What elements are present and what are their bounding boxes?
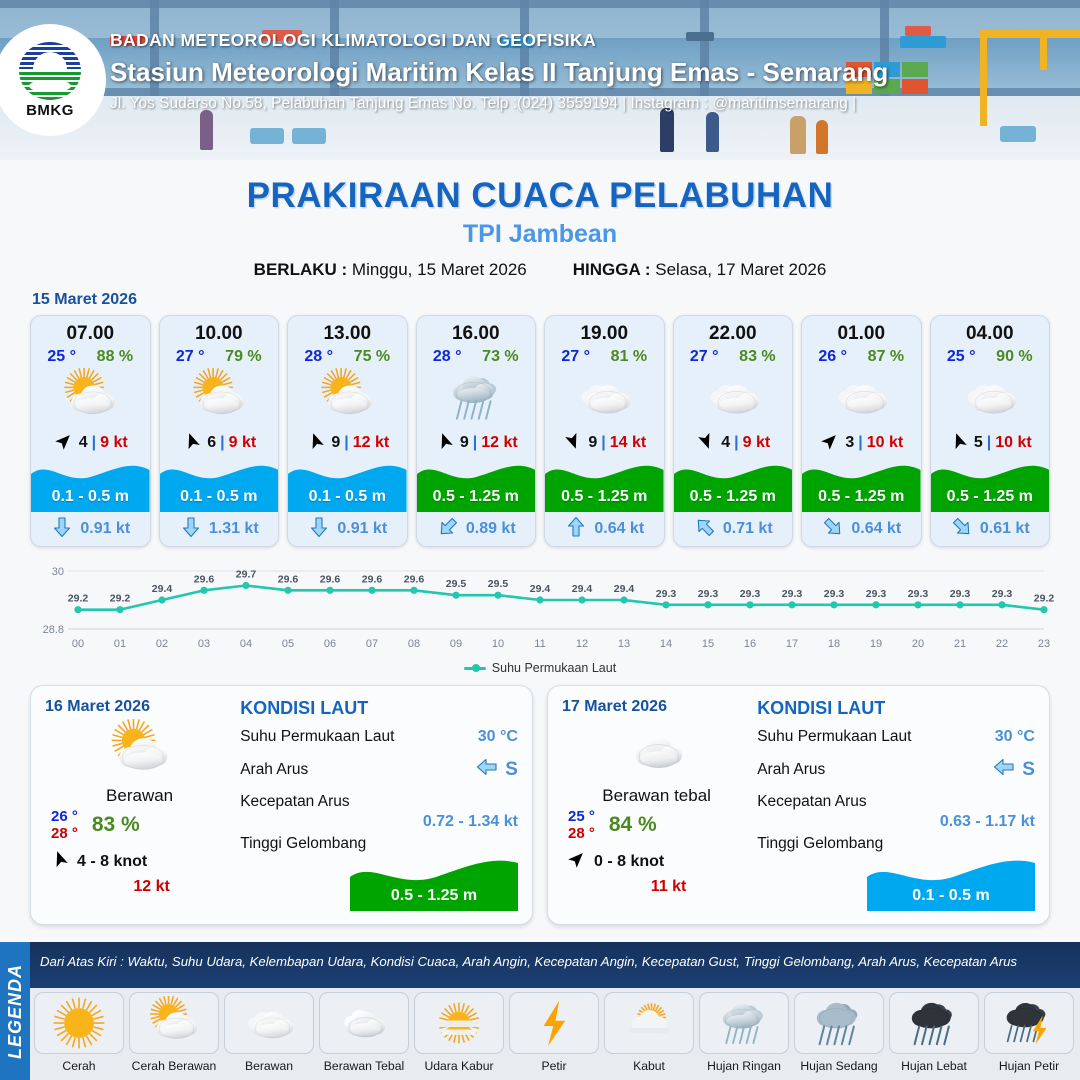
card-separator: |: [92, 434, 96, 452]
svg-text:29.3: 29.3: [698, 588, 719, 600]
card-time: 07.00: [31, 316, 150, 345]
card-humidity: 81 %: [611, 348, 647, 366]
wind-direction-arrow-icon: [695, 430, 717, 457]
card-temp-humidity-row: 27 ° 83 %: [674, 345, 793, 366]
svg-text:16: 16: [744, 638, 756, 650]
panel-temp-max: 28 °: [51, 825, 78, 842]
traveller-figure: [816, 120, 828, 154]
sst-row: Suhu Permukaan Laut 30 °C: [757, 728, 1035, 746]
hujan-ringan-icon: [699, 992, 789, 1054]
svg-text:18: 18: [828, 638, 840, 650]
card-temperature: 28 °: [433, 348, 462, 366]
svg-text:06: 06: [324, 638, 336, 650]
card-gust: 10 kt: [995, 434, 1031, 452]
svg-text:29.5: 29.5: [446, 578, 467, 590]
current-direction-arrow-icon: [693, 515, 717, 544]
svg-text:29.3: 29.3: [992, 588, 1013, 600]
svg-text:17: 17: [786, 638, 798, 650]
berawan-icon: [545, 366, 664, 428]
current-direction-row: Arah Arus S: [240, 755, 518, 784]
card-wave-block: 0.1 - 0.5 m: [160, 458, 279, 512]
card-temp-humidity-row: 25 ° 88 %: [31, 345, 150, 366]
svg-text:29.6: 29.6: [194, 573, 215, 585]
sst-label: Suhu Permukaan Laut: [757, 728, 911, 746]
current-speed-row: Kecepatan Arus 0.63 - 1.17 kt: [757, 793, 1035, 831]
page-subtitle: TPI Jambean: [0, 220, 1080, 249]
udara-kabur-icon: [414, 992, 504, 1054]
card-gust: 9 kt: [743, 434, 771, 452]
hourly-card[interactable]: 16.00 28 ° 73 % 9 | 12 kt: [416, 315, 537, 547]
panel-temp-pair: 26 ° 28 °: [51, 808, 78, 842]
panel-gust: 12 kt: [45, 878, 234, 896]
svg-text:29.2: 29.2: [1034, 593, 1054, 605]
card-current-speed: 0.89 kt: [466, 520, 516, 538]
sst-value: 30 °C: [995, 728, 1035, 746]
card-wind-row: 9 | 14 kt: [545, 428, 664, 458]
panel-temp-min: 26 °: [51, 808, 78, 825]
cerah-berawan-icon: [288, 366, 407, 428]
sst-row: Suhu Permukaan Laut 30 °C: [240, 728, 518, 746]
current-speed-value: 0.72 - 1.34 kt: [240, 813, 518, 831]
card-wave-block: 0.1 - 0.5 m: [31, 458, 150, 512]
legend-item-label: Hujan Petir: [999, 1059, 1059, 1073]
card-wave-height: 0.1 - 0.5 m: [160, 488, 279, 506]
crane-icon: [980, 30, 987, 126]
card-current-speed: 0.71 kt: [723, 520, 773, 538]
current-speed-value: 0.63 - 1.17 kt: [757, 813, 1035, 831]
traveller-figure: [660, 108, 674, 152]
legend-item: Cerah: [34, 992, 124, 1073]
wind-direction-arrow-icon: [562, 430, 584, 457]
chart-legend: Suhu Permukaan Laut: [0, 661, 1080, 675]
cerah-berawan-icon: [45, 718, 234, 784]
card-gust: 14 kt: [610, 434, 646, 452]
current-direction-arrow-icon: [436, 515, 460, 544]
card-current-row: 0.64 kt: [802, 512, 921, 546]
hourly-card[interactable]: 22.00 27 ° 83 % 4 | 9 kt: [673, 315, 794, 547]
header-beam-top: [0, 0, 1080, 8]
panel-sea-conditions: KONDISI LAUT Suhu Permukaan Laut 30 °C A…: [751, 698, 1035, 912]
svg-text:09: 09: [450, 638, 462, 650]
panel-gust: 11 kt: [562, 878, 751, 896]
current-direction-arrow-icon: [564, 515, 588, 544]
svg-text:13: 13: [618, 638, 630, 650]
current-direction-label: Arah Arus: [757, 761, 825, 779]
card-current-speed: 1.31 kt: [209, 520, 259, 538]
hujan-sedang-icon: [794, 992, 884, 1054]
svg-text:29.6: 29.6: [278, 573, 299, 585]
card-current-speed: 0.91 kt: [337, 520, 387, 538]
kabut-icon: [604, 992, 694, 1054]
card-time: 01.00: [802, 316, 921, 345]
card-wind-value: 4: [721, 434, 730, 452]
card-wind-value: 5: [974, 434, 983, 452]
page-title: PRAKIRAAN CUACA PELABUHAN: [0, 176, 1080, 216]
traveller-figure: [706, 112, 719, 152]
wind-direction-arrow-icon: [181, 430, 203, 457]
card-gust: 10 kt: [867, 434, 903, 452]
card-current-speed: 0.91 kt: [80, 520, 130, 538]
card-wind-row: 9 | 12 kt: [417, 428, 536, 458]
svg-text:08: 08: [408, 638, 420, 650]
card-separator: |: [858, 434, 862, 452]
hourly-card[interactable]: 04.00 25 ° 90 % 5 | 10 kt: [930, 315, 1051, 547]
sst-chart-canvas: 3028.829.20029.20129.40229.60329.70429.6…: [26, 559, 1054, 659]
card-wind-row: 9 | 12 kt: [288, 428, 407, 458]
hingga-label: HINGGA :: [573, 260, 651, 279]
bmkg-logo-mark: [19, 42, 81, 100]
card-gust: 9 kt: [100, 434, 128, 452]
card-wave-block: 0.5 - 1.25 m: [674, 458, 793, 512]
card-wind-row: 4 | 9 kt: [31, 428, 150, 458]
card-wind-value: 9: [331, 434, 340, 452]
traveller-figure: [790, 116, 806, 154]
card-wave-block: 0.5 - 1.25 m: [545, 458, 664, 512]
card-temperature: 27 °: [561, 348, 590, 366]
card-temp-humidity-row: 26 ° 87 %: [802, 345, 921, 366]
berawan-icon: [931, 366, 1050, 428]
card-separator: |: [344, 434, 348, 452]
svg-text:29.3: 29.3: [950, 588, 971, 600]
panel-humidity: 83 %: [92, 813, 140, 837]
legend-item: Hujan Lebat: [889, 992, 979, 1073]
svg-text:29.4: 29.4: [530, 583, 551, 595]
current-direction-value: S: [1022, 759, 1035, 781]
card-wave-height: 0.5 - 1.25 m: [417, 488, 536, 506]
card-current-row: 1.31 kt: [160, 512, 279, 546]
hourly-card[interactable]: 13.00 28 ° 75 % 9 | 12 kt: [287, 315, 408, 547]
hujan-ringan-icon: [417, 366, 536, 428]
berawan-icon: [224, 992, 314, 1054]
card-wave-height: 0.5 - 1.25 m: [545, 488, 664, 506]
legend-item: Hujan Ringan: [699, 992, 789, 1073]
card-gust: 12 kt: [353, 434, 389, 452]
wind-direction-arrow-icon: [434, 430, 456, 457]
berawan-tebal-icon: [562, 718, 751, 784]
card-current-row: 0.91 kt: [288, 512, 407, 546]
svg-text:00: 00: [72, 638, 84, 650]
legend-item: Berawan: [224, 992, 314, 1073]
card-wind-value: 3: [845, 434, 854, 452]
panel-wave-block: 0.1 - 0.5 m: [867, 855, 1035, 911]
card-time: 13.00: [288, 316, 407, 345]
svg-text:20: 20: [912, 638, 924, 650]
current-direction-arrow-icon: [475, 755, 499, 784]
panel-date: 16 Maret 2026: [45, 698, 234, 716]
sea-conditions-title: KONDISI LAUT: [757, 698, 1035, 719]
svg-text:07: 07: [366, 638, 378, 650]
legend-item-label: Hujan Ringan: [707, 1059, 781, 1073]
chart-legend-label: Suhu Permukaan Laut: [492, 661, 616, 675]
card-wind-value: 6: [207, 434, 216, 452]
card-temp-humidity-row: 27 ° 79 %: [160, 345, 279, 366]
panel-temp-row: 26 ° 28 ° 83 %: [45, 808, 234, 842]
sea-conditions-title: KONDISI LAUT: [240, 698, 518, 719]
current-direction-value-group: S: [475, 755, 518, 784]
berlaku-value: Minggu, 15 Maret 2026: [352, 260, 527, 279]
legend-item: Petir: [509, 992, 599, 1073]
svg-text:29.3: 29.3: [656, 588, 677, 600]
svg-text:14: 14: [660, 638, 672, 650]
wind-direction-arrow-icon: [305, 430, 327, 457]
svg-text:29.3: 29.3: [824, 588, 845, 600]
contact-line: Jl. Yos Sudarso No.58, Pelabuhan Tanjung…: [110, 95, 888, 113]
card-temp-humidity-row: 28 ° 75 %: [288, 345, 407, 366]
svg-text:02: 02: [156, 638, 168, 650]
panel-left: 17 Maret 2026 Berawan tebal 25 ° 28 °: [562, 698, 751, 912]
panel-wind-row: 4 - 8 knot: [45, 848, 234, 875]
card-separator: |: [734, 434, 738, 452]
wind-direction-arrow-icon: [566, 848, 588, 875]
legend-item: Berawan Tebal: [319, 992, 409, 1073]
card-current-row: 0.91 kt: [31, 512, 150, 546]
legend-item-label: Kabut: [633, 1059, 665, 1073]
berlaku-group: BERLAKU : Minggu, 15 Maret 2026: [254, 260, 527, 280]
card-time: 22.00: [674, 316, 793, 345]
card-wind-row: 4 | 9 kt: [674, 428, 793, 458]
card-temperature: 25 °: [947, 348, 976, 366]
svg-text:23: 23: [1038, 638, 1050, 650]
svg-text:29.4: 29.4: [572, 583, 593, 595]
berlaku-label: BERLAKU :: [254, 260, 348, 279]
svg-text:29.6: 29.6: [320, 573, 341, 585]
wind-direction-arrow-icon: [49, 848, 71, 875]
card-time: 04.00: [931, 316, 1050, 345]
card-humidity: 88 %: [97, 348, 133, 366]
card-current-speed: 0.64 kt: [851, 520, 901, 538]
card-wave-height: 0.1 - 0.5 m: [288, 488, 407, 506]
svg-text:29.3: 29.3: [866, 588, 887, 600]
waiting-chair: [1000, 126, 1036, 142]
current-direction-label: Arah Arus: [240, 761, 308, 779]
current-speed-label: Kecepatan Arus: [757, 793, 1035, 811]
svg-text:29.6: 29.6: [362, 573, 383, 585]
svg-text:30: 30: [52, 566, 64, 578]
berawan-tebal-icon: [319, 992, 409, 1054]
daily-forecast-panel[interactable]: 16 Maret 2026 Berawan 26 ° 28 ° 83 %: [30, 685, 533, 925]
cerah-icon: [34, 992, 124, 1054]
waiting-chair: [250, 128, 284, 144]
cerah-berawan-icon: [31, 366, 150, 428]
card-humidity: 87 %: [868, 348, 904, 366]
card-wind-value: 9: [588, 434, 597, 452]
svg-text:29.2: 29.2: [68, 593, 89, 605]
hourly-date-label: 15 Maret 2026: [32, 291, 1080, 309]
crane-boom: [980, 30, 1080, 37]
current-direction-value-group: S: [992, 755, 1035, 784]
svg-text:28.8: 28.8: [43, 624, 64, 636]
cerah-berawan-icon: [129, 992, 219, 1054]
svg-text:01: 01: [114, 638, 126, 650]
hourly-card[interactable]: 19.00 27 ° 81 % 9 | 14 kt: [544, 315, 665, 547]
panel-left: 16 Maret 2026 Berawan 26 ° 28 ° 83 %: [45, 698, 234, 912]
wave-row: Tinggi Gelombang 0.5 - 1.25 m: [240, 835, 518, 911]
wave-label: Tinggi Gelombang: [757, 835, 1035, 853]
card-wave-block: 0.5 - 1.25 m: [802, 458, 921, 512]
panel-wave-value: 0.1 - 0.5 m: [867, 887, 1035, 905]
card-temperature: 26 °: [818, 348, 847, 366]
panel-wind-row: 0 - 8 knot: [562, 848, 751, 875]
card-temperature: 27 °: [690, 348, 719, 366]
current-direction-arrow-icon: [50, 515, 74, 544]
svg-text:29.6: 29.6: [404, 573, 425, 585]
sst-value: 30 °C: [478, 728, 518, 746]
svg-text:15: 15: [702, 638, 714, 650]
card-separator: |: [473, 434, 477, 452]
daily-forecast-panel[interactable]: 17 Maret 2026 Berawan tebal 25 ° 28 °: [547, 685, 1050, 925]
legend-item: Hujan Sedang: [794, 992, 884, 1073]
card-current-row: 0.64 kt: [545, 512, 664, 546]
panel-wind-range: 4 - 8 knot: [77, 853, 147, 871]
panel-temp-max: 28 °: [568, 825, 595, 842]
panel-condition: Berawan: [45, 786, 234, 806]
legend-item: Kabut: [604, 992, 694, 1073]
svg-text:12: 12: [576, 638, 588, 650]
card-humidity: 75 %: [354, 348, 390, 366]
panel-humidity: 84 %: [609, 813, 657, 837]
legend-side-tab: LEGENDA: [0, 942, 30, 1080]
card-wind-row: 3 | 10 kt: [802, 428, 921, 458]
wind-direction-arrow-icon: [819, 430, 841, 457]
waiting-chair: [292, 128, 326, 144]
bmkg-logo-text: BMKG: [26, 102, 74, 119]
hujan-lebat-icon: [889, 992, 979, 1054]
sst-label: Suhu Permukaan Laut: [240, 728, 394, 746]
legend-item: Udara Kabur: [414, 992, 504, 1073]
panel-date: 17 Maret 2026: [562, 698, 751, 716]
svg-text:03: 03: [198, 638, 210, 650]
card-wind-row: 6 | 9 kt: [160, 428, 279, 458]
panel-temp-pair: 25 ° 28 °: [568, 808, 595, 842]
page-header: BMKG BADAN METEOROLOGI KLIMATOLOGI DAN G…: [0, 0, 1080, 160]
panel-wind-range: 0 - 8 knot: [594, 853, 664, 871]
card-separator: |: [220, 434, 224, 452]
card-wave-block: 0.5 - 1.25 m: [417, 458, 536, 512]
card-gust: 9 kt: [229, 434, 257, 452]
legend-item-label: Udara Kabur: [424, 1059, 493, 1073]
card-wave-block: 0.5 - 1.25 m: [931, 458, 1050, 512]
svg-text:04: 04: [240, 638, 252, 650]
wave-row: Tinggi Gelombang 0.1 - 0.5 m: [757, 835, 1035, 911]
petir-icon: [509, 992, 599, 1054]
card-wind-row: 5 | 10 kt: [931, 428, 1050, 458]
svg-text:29.3: 29.3: [740, 588, 761, 600]
svg-text:22: 22: [996, 638, 1008, 650]
current-speed-row: Kecepatan Arus 0.72 - 1.34 kt: [240, 793, 518, 831]
legend-item-label: Petir: [541, 1059, 566, 1073]
berawan-icon: [674, 366, 793, 428]
hingga-group: HINGGA : Selasa, 17 Maret 2026: [573, 260, 827, 280]
legend-section: Dari Atas Kiri : Waktu, Suhu Udara, Kele…: [0, 942, 1080, 1080]
legend-item: Cerah Berawan: [129, 992, 219, 1073]
hourly-card[interactable]: 10.00 27 ° 79 % 6 | 9 kt: [159, 315, 280, 547]
current-direction-arrow-icon: [179, 515, 203, 544]
card-wind-value: 9: [460, 434, 469, 452]
card-current-row: 0.89 kt: [417, 512, 536, 546]
logo-wave: [29, 80, 71, 92]
svg-text:19: 19: [870, 638, 882, 650]
cargo-stack: [905, 26, 931, 36]
card-temperature: 25 °: [47, 348, 76, 366]
panel-temp-min: 25 °: [568, 808, 595, 825]
legend-note: Dari Atas Kiri : Waktu, Suhu Udara, Kele…: [40, 954, 1017, 969]
card-temperature: 28 °: [304, 348, 333, 366]
shipping-container: [902, 62, 928, 77]
svg-text:10: 10: [492, 638, 504, 650]
daily-panels-row: 16 Maret 2026 Berawan 26 ° 28 ° 83 %: [0, 675, 1080, 925]
legend-item: Hujan Petir: [984, 992, 1074, 1073]
card-current-speed: 0.64 kt: [594, 520, 644, 538]
card-temp-humidity-row: 25 ° 90 %: [931, 345, 1050, 366]
svg-text:11: 11: [534, 638, 545, 650]
panel-temp-row: 25 ° 28 ° 84 %: [562, 808, 751, 842]
card-humidity: 83 %: [739, 348, 775, 366]
card-wave-height: 0.5 - 1.25 m: [931, 488, 1050, 506]
current-direction-value: S: [505, 759, 518, 781]
card-separator: |: [601, 434, 605, 452]
validity-row: BERLAKU : Minggu, 15 Maret 2026 HINGGA :…: [0, 260, 1080, 280]
header-text-block: BADAN METEOROLOGI KLIMATOLOGI DAN GEOFIS…: [110, 30, 888, 113]
station-name: Stasiun Meteorologi Maritim Kelas II Tan…: [110, 57, 888, 88]
card-humidity: 73 %: [482, 348, 518, 366]
svg-text:29.2: 29.2: [110, 593, 131, 605]
card-wave-block: 0.1 - 0.5 m: [288, 458, 407, 512]
hingga-value: Selasa, 17 Maret 2026: [655, 260, 826, 279]
current-speed-label: Kecepatan Arus: [240, 793, 518, 811]
card-current-row: 0.71 kt: [674, 512, 793, 546]
agency-name: BADAN METEOROLOGI KLIMATOLOGI DAN GEOFIS…: [110, 30, 888, 51]
current-direction-arrow-icon: [821, 515, 845, 544]
berawan-icon: [802, 366, 921, 428]
card-temp-humidity-row: 27 ° 81 %: [545, 345, 664, 366]
legend-item-label: Cerah: [62, 1059, 95, 1073]
panel-sea-conditions: KONDISI LAUT Suhu Permukaan Laut 30 °C A…: [234, 698, 518, 912]
ship-silhouette: [900, 36, 946, 48]
wind-direction-arrow-icon: [948, 430, 970, 457]
card-wave-height: 0.1 - 0.5 m: [31, 488, 150, 506]
legend-item-label: Hujan Lebat: [901, 1059, 967, 1073]
card-wind-value: 4: [79, 434, 88, 452]
wind-direction-arrow-icon: [53, 430, 75, 457]
svg-text:29.4: 29.4: [152, 583, 173, 595]
shipping-container: [902, 79, 928, 94]
legend-side-label: LEGENDA: [5, 963, 26, 1058]
svg-text:29.7: 29.7: [236, 569, 257, 581]
crane-leg: [1040, 30, 1047, 70]
card-time: 16.00: [417, 316, 536, 345]
card-wave-height: 0.5 - 1.25 m: [802, 488, 921, 506]
card-temperature: 27 °: [176, 348, 205, 366]
svg-text:29.3: 29.3: [908, 588, 929, 600]
svg-text:29.5: 29.5: [488, 578, 509, 590]
card-temp-humidity-row: 28 ° 73 %: [417, 345, 536, 366]
current-direction-arrow-icon: [950, 515, 974, 544]
current-direction-arrow-icon: [307, 515, 331, 544]
hourly-card[interactable]: 01.00 26 ° 87 % 3 | 10 kt: [801, 315, 922, 547]
wave-label: Tinggi Gelombang: [240, 835, 518, 853]
card-humidity: 90 %: [996, 348, 1032, 366]
card-gust: 12 kt: [481, 434, 517, 452]
hourly-card[interactable]: 07.00 25 ° 88 % 4 | 9 kt: [30, 315, 151, 547]
card-current-speed: 0.61 kt: [980, 520, 1030, 538]
panel-wave-block: 0.5 - 1.25 m: [350, 855, 518, 911]
hujan-petir-icon: [984, 992, 1074, 1054]
panel-condition: Berawan tebal: [562, 786, 751, 806]
card-wave-height: 0.5 - 1.25 m: [674, 488, 793, 506]
sst-chart: 3028.829.20029.20129.40229.60329.70429.6…: [26, 559, 1054, 659]
card-time: 19.00: [545, 316, 664, 345]
legend-item-label: Berawan Tebal: [324, 1059, 404, 1073]
